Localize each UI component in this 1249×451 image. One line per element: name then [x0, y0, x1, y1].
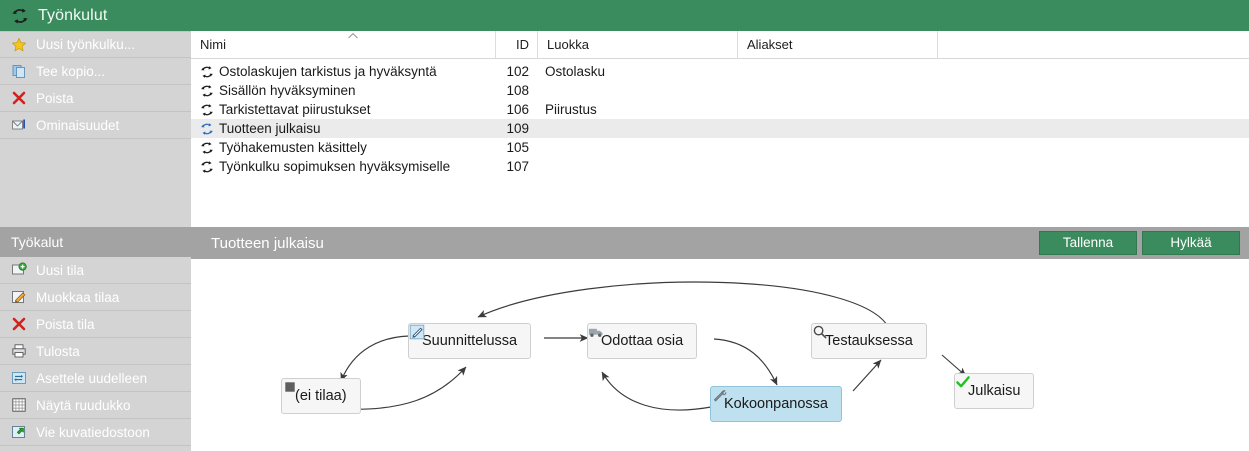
row-name-cell: Sisällön hyväksyminen	[191, 83, 495, 98]
delete-x-icon	[11, 316, 27, 332]
sidebar-item-label: Uusi työnkulku...	[36, 37, 135, 52]
sidebar-item-make-copy[interactable]: Tee kopio...	[0, 58, 191, 85]
row-name: Tuotteen julkaisu	[219, 121, 321, 136]
sidebar-item-relayout[interactable]: Asettele uudelleen	[0, 365, 191, 392]
window-title: Työnkulut	[38, 7, 107, 25]
sidebar-item-label: Tee kopio...	[36, 64, 105, 79]
workflow-icon	[200, 65, 214, 79]
column-header-label: Aliakset	[747, 37, 793, 52]
row-id: 106	[495, 102, 537, 117]
sidebar-group-title-tools: Työkalut	[0, 227, 191, 257]
sidebar-item-label: Näytä ruudukko	[36, 398, 131, 413]
row-name-cell: Työnkulku sopimuksen hyväksymiselle	[191, 159, 495, 174]
column-header-label: ID	[516, 37, 529, 52]
sidebar-item-print[interactable]: Tulosta	[0, 338, 191, 365]
check-icon	[955, 374, 971, 390]
workflow-icon	[200, 103, 214, 117]
sidebar-item-label: Poista tila	[36, 317, 95, 332]
diagram-node-ei-tilaa[interactable]: (ei tilaa)	[281, 378, 361, 414]
workflow-icon	[200, 141, 214, 155]
row-name: Ostolaskujen tarkistus ja hyväksyntä	[219, 64, 437, 79]
workflow-diagram-canvas[interactable]: (ei tilaa) Suunnittelussa Odottaa osia	[191, 259, 1249, 451]
properties-icon	[11, 117, 27, 133]
sidebar: Uusi työnkulku... Tee kopio... Poista	[0, 31, 191, 451]
sidebar-group-actions: Uusi työnkulku... Tee kopio... Poista	[0, 31, 191, 227]
column-header-spacer	[937, 31, 1037, 58]
diagram-node-odottaa-osia[interactable]: Odottaa osia	[587, 323, 697, 359]
diagram-connectors	[191, 259, 1249, 451]
column-header-nimi[interactable]: Nimi	[191, 31, 495, 58]
table-row[interactable]: Ostolaskujen tarkistus ja hyväksyntä 102…	[191, 62, 1249, 81]
editor-actions: Tallenna Hylkää	[1039, 231, 1249, 255]
diagram-node-julkaisu[interactable]: Julkaisu	[954, 373, 1034, 409]
table-row-selected[interactable]: Tuotteen julkaisu 109	[191, 119, 1249, 138]
discard-button[interactable]: Hylkää	[1142, 231, 1240, 255]
sidebar-item-label: Tulosta	[36, 344, 80, 359]
diagram-node-testauksessa[interactable]: Testauksessa	[811, 323, 927, 359]
row-name: Työhakemusten käsittely	[219, 140, 367, 155]
row-name: Tarkistettavat piirustukset	[219, 102, 371, 117]
square-stop-icon	[282, 379, 298, 395]
sidebar-item-properties[interactable]: Ominaisuudet	[0, 112, 191, 139]
grid-icon	[11, 397, 27, 413]
table-row[interactable]: Sisällön hyväksyminen 108	[191, 81, 1249, 100]
row-class: Ostolasku	[537, 64, 737, 79]
column-header-label: Luokka	[547, 37, 589, 52]
column-header-luokka[interactable]: Luokka	[537, 31, 737, 58]
diagram-node-label: Suunnittelussa	[422, 333, 517, 349]
sidebar-item-label: Vie kuvatiedostoon	[36, 425, 150, 440]
edit-state-icon	[11, 289, 27, 305]
column-header-label: Nimi	[200, 37, 226, 52]
workflow-list-rows: Ostolaskujen tarkistus ja hyväksyntä 102…	[191, 59, 1249, 176]
table-row[interactable]: Työhakemusten käsittely 105	[191, 138, 1249, 157]
row-id: 109	[495, 121, 537, 136]
row-id: 105	[495, 140, 537, 155]
export-image-icon	[11, 424, 27, 440]
sidebar-group-tools: Työkalut Uusi tila Muokkaa tilaa	[0, 227, 191, 451]
workflow-icon	[11, 7, 29, 25]
diagram-node-label: Testauksessa	[825, 333, 913, 349]
diagram-node-label: Kokoonpanossa	[724, 396, 828, 412]
sidebar-item-label: Muokkaa tilaa	[36, 290, 119, 305]
edit-pencil-icon	[409, 324, 425, 340]
row-id: 107	[495, 159, 537, 174]
diagram-node-label: (ei tilaa)	[295, 388, 347, 404]
diagram-node-label: Odottaa osia	[601, 333, 683, 349]
diagram-node-suunnittelussa[interactable]: Suunnittelussa	[408, 323, 531, 359]
table-row[interactable]: Tarkistettavat piirustukset 106 Piirustu…	[191, 100, 1249, 119]
list-column-header: Nimi ID Luokka Aliakset	[191, 31, 1249, 59]
sidebar-empty-space	[0, 139, 191, 215]
workflow-icon	[200, 160, 214, 174]
sidebar-item-label: Asettele uudelleen	[36, 371, 147, 386]
relayout-icon	[11, 370, 27, 386]
save-button[interactable]: Tallenna	[1039, 231, 1137, 255]
editor-title: Tuotteen julkaisu	[191, 235, 324, 252]
sidebar-item-export-image[interactable]: Vie kuvatiedostoon	[0, 419, 191, 446]
row-id: 108	[495, 83, 537, 98]
delete-x-icon	[11, 90, 27, 106]
star-icon	[11, 37, 27, 53]
copy-icon	[11, 63, 27, 79]
sort-ascending-icon	[347, 32, 359, 40]
sidebar-item-new-state[interactable]: Uusi tila	[0, 257, 191, 284]
sidebar-item-label: Uusi tila	[36, 263, 84, 278]
print-icon	[11, 343, 27, 359]
sidebar-item-label: Ominaisuudet	[36, 118, 119, 133]
column-header-aliakset[interactable]: Aliakset	[737, 31, 937, 58]
canvas-corner	[1241, 420, 1249, 428]
sidebar-group-label: Työkalut	[11, 234, 63, 250]
row-name: Työnkulku sopimuksen hyväksymiselle	[219, 159, 450, 174]
row-name: Sisällön hyväksyminen	[219, 83, 356, 98]
workflow-editor-window: Työnkulut Uusi työnkulku... Tee kopio...	[0, 0, 1249, 451]
row-name-cell: Tarkistettavat piirustukset	[191, 102, 495, 117]
sidebar-item-show-grid[interactable]: Näytä ruudukko	[0, 392, 191, 419]
diagram-node-kokoonpanossa[interactable]: Kokoonpanossa	[710, 386, 842, 422]
workflow-icon	[200, 84, 214, 98]
row-id: 102	[495, 64, 537, 79]
row-name-cell: Ostolaskujen tarkistus ja hyväksyntä	[191, 64, 495, 79]
magnifier-icon	[812, 324, 828, 340]
sidebar-item-edit-state[interactable]: Muokkaa tilaa	[0, 284, 191, 311]
sidebar-item-label: Poista	[36, 91, 74, 106]
title-bar: Työnkulut	[0, 0, 1249, 31]
table-row[interactable]: Työnkulku sopimuksen hyväksymiselle 107	[191, 157, 1249, 176]
workflow-list-pane: Nimi ID Luokka Aliakset	[191, 31, 1249, 227]
truck-icon	[588, 324, 604, 340]
sidebar-item-new-workflow[interactable]: Uusi työnkulku...	[0, 31, 191, 58]
sidebar-item-delete[interactable]: Poista	[0, 85, 191, 112]
row-class: Piirustus	[537, 102, 737, 117]
row-name-cell: Työhakemusten käsittely	[191, 140, 495, 155]
new-state-icon	[11, 262, 27, 278]
sidebar-item-delete-state[interactable]: Poista tila	[0, 311, 191, 338]
editor-toolbar: Tuotteen julkaisu Tallenna Hylkää	[191, 227, 1249, 259]
workflow-icon	[200, 122, 214, 136]
wrench-icon	[711, 387, 727, 403]
row-name-cell: Tuotteen julkaisu	[191, 121, 495, 136]
column-header-id[interactable]: ID	[495, 31, 537, 58]
diagram-node-label: Julkaisu	[968, 383, 1020, 399]
